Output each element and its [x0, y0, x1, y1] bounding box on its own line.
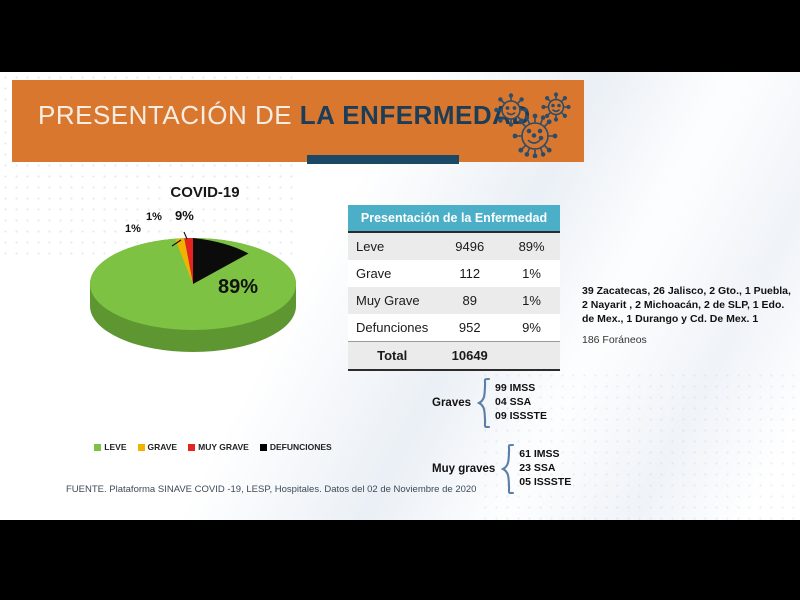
muy-graves-line-issste: 05 ISSSTE	[519, 476, 571, 490]
source-footer: FUENTE. Plataforma SINAVE COVID -19, LES…	[66, 484, 476, 495]
title-accent-bar	[307, 155, 459, 164]
row-pct-leve: 89%	[503, 232, 560, 260]
pie-label-leve: 89%	[218, 276, 258, 299]
row-count-muy-grave: 89	[436, 287, 503, 314]
graves-line-imss: 99 IMSS	[495, 382, 547, 396]
legend-label-muy-grave: MUY GRAVE	[198, 442, 249, 452]
title-light-part: PRESENTACIÓN DE	[38, 100, 300, 130]
row-label-defunciones: Defunciones	[348, 314, 436, 342]
total-value: 10649	[436, 342, 503, 371]
slide-viewport: PRESENTACIÓN DE LA ENFERMEDAD	[0, 0, 800, 600]
foreign-states-breakdown: 39 Zacatecas, 26 Jalisco, 2 Gto., 1 Pueb…	[582, 284, 794, 327]
legend-item-grave: GRAVE	[138, 442, 178, 452]
total-label: Total	[348, 342, 436, 371]
row-count-defunciones: 952	[436, 314, 503, 342]
legend-item-leve: LEVE	[94, 442, 126, 452]
chart-title: COVID-19	[60, 184, 350, 201]
graves-breakdown-group: Graves 99 IMSS 04 SSA 09 ISSSTE	[432, 377, 547, 429]
row-label-muy-grave: Muy Grave	[348, 287, 436, 314]
graves-label: Graves	[432, 397, 471, 409]
table-row: Leve 9496 89%	[348, 232, 560, 260]
muy-graves-lines: 61 IMSS 23 SSA 05 ISSSTE	[519, 448, 571, 490]
muy-graves-label: Muy graves	[432, 463, 495, 475]
table-header-row: Presentación de la Enfermedad	[348, 205, 560, 232]
header-banner: PRESENTACIÓN DE LA ENFERMEDAD	[12, 80, 584, 162]
legend-label-grave: GRAVE	[148, 442, 178, 452]
legend-item-muy-grave: MUY GRAVE	[188, 442, 249, 452]
brace-icon	[501, 443, 515, 495]
legend-item-defunciones: DEFUNCIONES	[260, 442, 332, 452]
foraneos-count: 186 Foráneos	[582, 334, 647, 346]
muy-graves-line-imss: 61 IMSS	[519, 448, 571, 462]
table-header-title: Presentación de la Enfermedad	[348, 205, 560, 232]
presentation-slide: PRESENTACIÓN DE LA ENFERMEDAD	[0, 72, 800, 520]
table-row: Grave 112 1%	[348, 260, 560, 287]
pie-chart-graphic	[80, 206, 330, 391]
row-pct-muy-grave: 1%	[503, 287, 560, 314]
pie-label-grave: 1%	[125, 223, 141, 235]
pie-label-defunciones: 9%	[175, 208, 194, 223]
page-title: PRESENTACIÓN DE LA ENFERMEDAD	[38, 100, 531, 131]
row-label-leve: Leve	[348, 232, 436, 260]
row-count-leve: 9496	[436, 232, 503, 260]
graves-line-ssa: 04 SSA	[495, 396, 547, 410]
row-count-grave: 112	[436, 260, 503, 287]
row-pct-grave: 1%	[503, 260, 560, 287]
muy-graves-line-ssa: 23 SSA	[519, 462, 571, 476]
chart-legend: LEVE GRAVE MUY GRAVE DEFUNCIONES	[78, 442, 348, 452]
legend-swatch-leve	[94, 444, 101, 451]
disease-presentation-table: Presentación de la Enfermedad Leve 9496 …	[348, 205, 560, 371]
graves-lines: 99 IMSS 04 SSA 09 ISSSTE	[495, 382, 547, 424]
legend-swatch-muy-grave	[188, 444, 195, 451]
legend-label-leve: LEVE	[104, 442, 126, 452]
covid-pie-chart: COVID-19	[60, 184, 350, 384]
coronavirus-icon	[490, 90, 580, 158]
legend-swatch-grave	[138, 444, 145, 451]
pie-label-muy-grave: 1%	[146, 211, 162, 223]
table-row: Muy Grave 89 1%	[348, 287, 560, 314]
total-pct-empty	[503, 342, 560, 371]
brace-icon	[477, 377, 491, 429]
row-label-grave: Grave	[348, 260, 436, 287]
table-total-row: Total 10649	[348, 342, 560, 371]
legend-label-defunciones: DEFUNCIONES	[270, 442, 332, 452]
legend-swatch-defunciones	[260, 444, 267, 451]
graves-line-issste: 09 ISSSTE	[495, 410, 547, 424]
row-pct-defunciones: 9%	[503, 314, 560, 342]
table-row: Defunciones 952 9%	[348, 314, 560, 342]
